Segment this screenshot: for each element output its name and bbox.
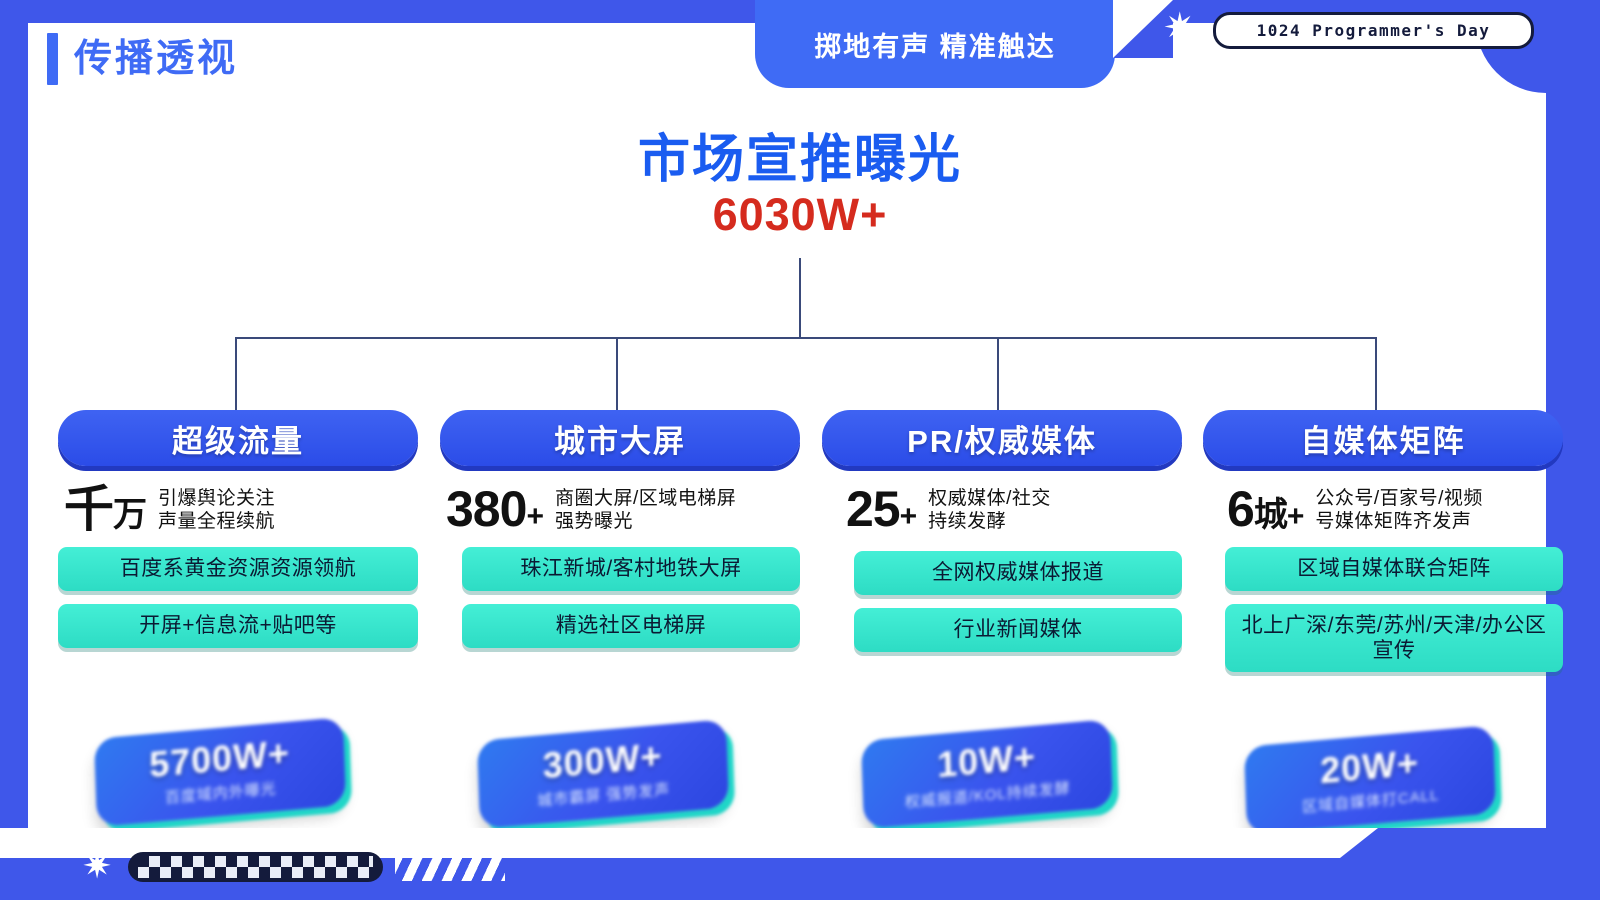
column-self-media: 自媒体矩阵 6城+ 公众号/百家号/视频 号媒体矩阵齐发声 区域自媒体联合矩阵 … (1203, 410, 1563, 672)
stat-desc-4: 公众号/百家号/视频 号媒体矩阵齐发声 (1315, 487, 1483, 533)
connector-crossbar (235, 337, 1376, 339)
stat-plus-4: + (1287, 500, 1304, 533)
chip-3-1[interactable]: 全网权威媒体报道 (854, 551, 1182, 595)
page-title-group: 传播透视 (47, 33, 238, 85)
stat-desc-3-line2: 持续发酵 (928, 510, 1051, 533)
stat-desc-2-line2: 强势曝光 (555, 510, 736, 533)
chip-label-3-1: 全网权威媒体报道 (932, 560, 1104, 585)
stat-desc-3-line1: 权威媒体/社交 (928, 487, 1051, 510)
headline: 市场宣推曝光 (0, 133, 1600, 188)
starburst-icon-bottom: ✷ (82, 848, 112, 884)
chip-label-1-1: 百度系黄金资源资源领航 (120, 556, 357, 581)
chip-label-3-2: 行业新闻媒体 (954, 617, 1083, 642)
column-pr-media: PR/权威媒体 25+ 权威媒体/社交 持续发酵 全网权威媒体报道 行业新闻媒体 (822, 410, 1182, 652)
stat-desc-1: 引爆舆论关注 声量全程续航 (158, 487, 275, 533)
pill-value-3: 10W+ (937, 739, 1037, 784)
slide-root: 传播透视 掷地有声 精准触达 ✷ 1024 Programmer's Day 市… (0, 0, 1600, 900)
connector-drop-3 (997, 337, 999, 412)
page-title: 传播透视 (74, 40, 238, 78)
column-header-4[interactable]: 自媒体矩阵 (1203, 410, 1563, 466)
column-super-traffic: 超级流量 千万 引爆舆论关注 声量全程续航 百度系黄金资源资源领航 开屏+信息流… (58, 410, 418, 648)
chip-label-4-1: 区域自媒体联合矩阵 (1297, 556, 1491, 581)
stat-desc-1-line2: 声量全程续航 (158, 510, 275, 533)
chip-2-1[interactable]: 珠江新城/客村地铁大屏 (462, 547, 800, 591)
chip-label-1-2: 开屏+信息流+贴吧等 (139, 613, 337, 638)
stat-number-2: 380+ (446, 486, 543, 534)
diagonal-stripes-decoration (395, 853, 505, 881)
stat-unit-4: 城 (1254, 496, 1287, 534)
stat-desc-1-line1: 引爆舆论关注 (158, 487, 275, 510)
programmer-day-badge: 1024 Programmer's Day (1213, 12, 1534, 49)
column-title-1: 超级流量 (172, 416, 304, 461)
connector-drop-4 (1375, 337, 1377, 412)
starburst-icon: ✷ (1163, 8, 1197, 48)
stat-number-1: 千万 (64, 486, 146, 534)
chip-1-1[interactable]: 百度系黄金资源资源领航 (58, 547, 418, 591)
stat-desc-2-line1: 商圈大屏/区域电梯屏 (555, 487, 736, 510)
connector-drop-2 (616, 337, 618, 412)
pill-caption-3: 权威报道/KOL持续发酵 (905, 777, 1071, 813)
column-header-2[interactable]: 城市大屏 (440, 410, 800, 466)
pill-value-1: 5700W+ (149, 735, 291, 783)
badge-label: 1024 Programmer's Day (1257, 21, 1491, 40)
stat-value-2: 380 (446, 481, 526, 537)
stat-desc-3: 权威媒体/社交 持续发酵 (928, 487, 1051, 533)
connector-drop-1 (235, 337, 237, 412)
chip-label-2-2: 精选社区电梯屏 (556, 613, 707, 638)
stat-plus-3: + (900, 500, 917, 533)
stat-unit-1: 万 (113, 496, 146, 534)
bottom-decoration-bar: ✷ (0, 828, 1600, 900)
total-value: 6030W+ (0, 192, 1600, 237)
column-stat-4: 6城+ 公众号/百家号/视频 号媒体矩阵齐发声 (1203, 486, 1563, 534)
column-stat-3: 25+ 权威媒体/社交 持续发酵 (822, 486, 1182, 534)
stat-number-4: 6城+ (1227, 486, 1303, 534)
checker-pill-decoration (128, 852, 383, 882)
checker-pattern (138, 856, 373, 878)
main-heading-group: 市场宣推曝光 6030W+ (0, 133, 1600, 237)
column-title-2: 城市大屏 (554, 416, 686, 461)
column-title-4: 自媒体矩阵 (1301, 416, 1466, 461)
stat-desc-4-line2: 号媒体矩阵齐发声 (1315, 510, 1483, 533)
stat-number-3: 25+ (846, 486, 916, 534)
connector-stem (799, 258, 801, 338)
slogan-banner: 掷地有声 精准触达 (755, 0, 1115, 88)
stat-value-3: 25 (846, 481, 900, 537)
title-accent-bar (47, 33, 58, 85)
column-header-3[interactable]: PR/权威媒体 (822, 410, 1182, 466)
chip-label-4-2: 北上广深/东莞/苏州/天津/办公区宣传 (1235, 613, 1553, 663)
chip-4-2[interactable]: 北上广深/东莞/苏州/天津/办公区宣传 (1225, 604, 1563, 672)
chip-2-2[interactable]: 精选社区电梯屏 (462, 604, 800, 648)
column-title-3: PR/权威媒体 (907, 416, 1097, 461)
column-stat-2: 380+ 商圈大屏/区域电梯屏 强势曝光 (440, 486, 800, 534)
slogan-text: 掷地有声 精准触达 (814, 25, 1056, 64)
pill-value-4: 20W+ (1320, 745, 1420, 790)
stat-desc-2: 商圈大屏/区域电梯屏 强势曝光 (555, 487, 736, 533)
stat-value-4: 6 (1227, 481, 1254, 537)
stat-plus-2: + (526, 500, 543, 533)
column-header-1[interactable]: 超级流量 (58, 410, 418, 466)
chip-4-1[interactable]: 区域自媒体联合矩阵 (1225, 547, 1563, 591)
column-city-screen: 城市大屏 380+ 商圈大屏/区域电梯屏 强势曝光 珠江新城/客村地铁大屏 精选… (440, 410, 800, 648)
column-stat-1: 千万 引爆舆论关注 声量全程续航 (58, 486, 418, 534)
stat-value-1: 千 (64, 481, 113, 537)
chip-3-2[interactable]: 行业新闻媒体 (854, 608, 1182, 652)
stat-desc-4-line1: 公众号/百家号/视频 (1315, 487, 1483, 510)
chip-label-2-1: 珠江新城/客村地铁大屏 (520, 556, 741, 581)
pill-value-2: 300W+ (542, 738, 663, 784)
chip-1-2[interactable]: 开屏+信息流+贴吧等 (58, 604, 418, 648)
